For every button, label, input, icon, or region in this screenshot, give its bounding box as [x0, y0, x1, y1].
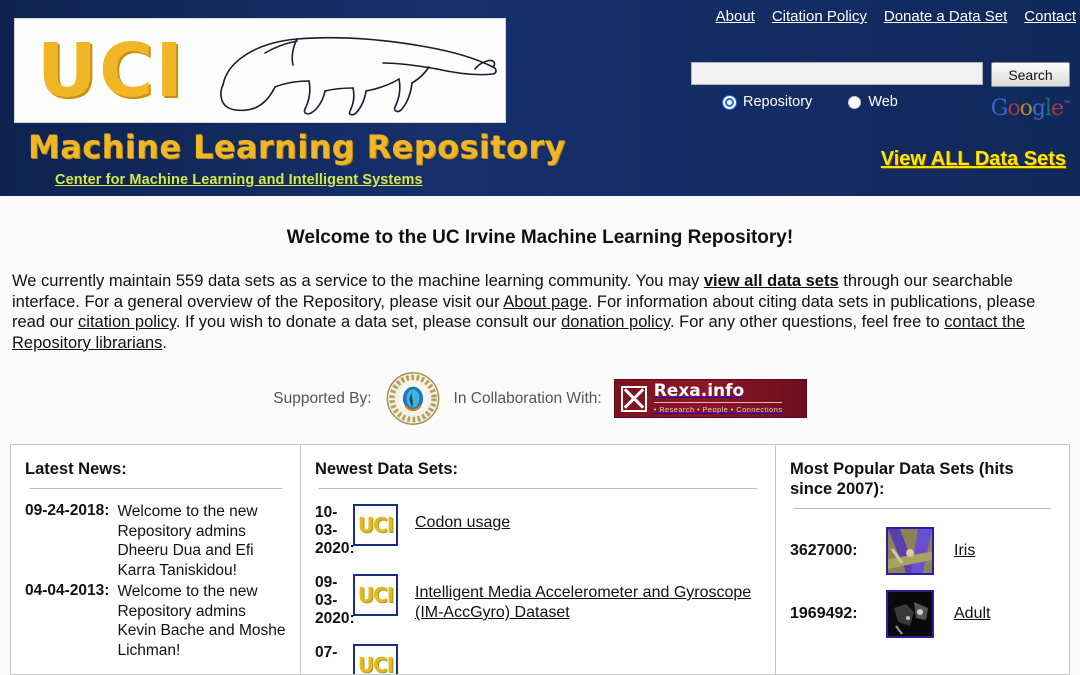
info-panels: Latest News: 09-24-2018: Welcome to the … — [10, 444, 1070, 675]
uci-wordmark: UCI — [37, 25, 185, 117]
collaboration-label: In Collaboration With: — [454, 390, 602, 408]
supported-by-label: Supported By: — [273, 390, 371, 408]
most-popular-heading: Most Popular Data Sets (hits since 2007)… — [790, 459, 1055, 499]
divider — [29, 488, 282, 489]
site-title: Machine Learning Repository — [28, 128, 566, 166]
panel-latest-news: Latest News: 09-24-2018: Welcome to the … — [11, 445, 301, 674]
rexa-tagline: • Research • People • Connections — [654, 406, 783, 414]
dataset-link[interactable]: Intelligent Media Accelerometer and Gyro… — [415, 574, 761, 623]
radio-web[interactable] — [848, 96, 861, 109]
dataset-date: 07- — [315, 644, 353, 662]
rexa-info-banner[interactable]: Rexa.info • Research • People • Connecti… — [614, 379, 807, 418]
view-all-data-sets-link[interactable]: View ALL Data Sets — [881, 148, 1066, 171]
divider — [794, 508, 1051, 509]
intro-text-6: . — [162, 334, 167, 352]
dataset-link[interactable]: Adult — [954, 605, 990, 623]
nsf-logo — [384, 371, 442, 426]
uci-logo-box: UCI — [14, 18, 506, 123]
news-item: 09-24-2018: Welcome to the new Repositor… — [25, 502, 286, 580]
dataset-link[interactable]: Iris — [954, 542, 975, 560]
search-form: Search — [691, 62, 1071, 87]
divider — [319, 488, 757, 489]
news-item: 04-04-2013: Welcome to the new Repositor… — [25, 582, 286, 660]
nav-donate-data-set[interactable]: Donate a Data Set — [884, 8, 1007, 25]
popular-list: 3627000: Iris 1969492: — [790, 527, 1055, 638]
link-about-page[interactable]: About page — [503, 293, 587, 311]
anteater-icon — [205, 23, 505, 123]
center-subtitle-link[interactable]: Center for Machine Learning and Intellig… — [55, 172, 423, 188]
uci-icon: UCI — [353, 504, 398, 546]
top-navigation: About Citation Policy Donate a Data Set … — [716, 8, 1076, 25]
iris-thumbnail — [886, 527, 934, 575]
list-item: 07- UCI — [315, 644, 761, 674]
rexa-name: Rexa.info — [654, 383, 783, 403]
nav-about[interactable]: About — [716, 8, 755, 25]
search-button[interactable]: Search — [991, 62, 1070, 87]
adult-thumbnail — [886, 590, 934, 638]
news-date: 04-04-2013: — [25, 582, 117, 660]
search-input[interactable] — [691, 62, 983, 85]
list-item: 09-03-2020: UCI Intelligent Media Accele… — [315, 574, 761, 628]
dataset-date: 10-03-2020: — [315, 504, 353, 558]
news-list: 09-24-2018: Welcome to the new Repositor… — [25, 502, 286, 660]
site-header: UCI Machine Learning Repository Center f… — [0, 0, 1080, 196]
link-citation-policy[interactable]: citation policy — [78, 313, 176, 331]
list-item: 1969492: Adult — [790, 590, 1055, 638]
news-text: Welcome to the new Repository admins Kev… — [117, 582, 286, 660]
nav-citation-policy[interactable]: Citation Policy — [772, 8, 867, 25]
google-logo: Google™ — [991, 96, 1070, 121]
news-text: Welcome to the new Repository admins Dhe… — [117, 502, 286, 580]
hit-count: 3627000: — [790, 542, 886, 560]
radio-repository-label: Repository — [743, 94, 812, 110]
list-item: 3627000: Iris — [790, 527, 1055, 575]
radio-repository[interactable] — [723, 96, 736, 109]
uci-icon: UCI — [353, 644, 398, 674]
radio-web-label: Web — [868, 94, 898, 110]
link-view-all-data-sets[interactable]: view all data sets — [704, 272, 839, 290]
intro-text-4: . If you wish to donate a data set, plea… — [176, 313, 561, 331]
panel-newest-data-sets: Newest Data Sets: 10-03-2020: UCI Codon … — [301, 445, 776, 674]
latest-news-heading: Latest News: — [25, 459, 286, 479]
dataset-date: 09-03-2020: — [315, 574, 353, 628]
page-title: Welcome to the UC Irvine Machine Learnin… — [0, 227, 1080, 249]
uci-icon: UCI — [353, 574, 398, 616]
intro-paragraph: We currently maintain 559 data sets as a… — [12, 271, 1068, 353]
rexa-x-icon — [621, 386, 647, 412]
dataset-link[interactable]: Codon usage — [415, 504, 510, 533]
newest-list: 10-03-2020: UCI Codon usage 09-03-2020: … — [315, 504, 761, 674]
sponsors-row: Supported By: In Collaboration With: Rex… — [0, 371, 1080, 426]
intro-text-5: . For any other questions, feel free to — [670, 313, 944, 331]
news-date: 09-24-2018: — [25, 502, 117, 580]
panel-most-popular: Most Popular Data Sets (hits since 2007)… — [776, 445, 1069, 674]
nav-contact[interactable]: Contact — [1024, 8, 1076, 25]
search-scope-group: Repository Web — [723, 94, 898, 110]
list-item: 10-03-2020: UCI Codon usage — [315, 504, 761, 558]
link-donation-policy[interactable]: donation policy — [561, 313, 670, 331]
intro-text-1: We currently maintain 559 data sets as a… — [12, 272, 704, 290]
newest-data-sets-heading: Newest Data Sets: — [315, 459, 761, 479]
hit-count: 1969492: — [790, 605, 886, 623]
